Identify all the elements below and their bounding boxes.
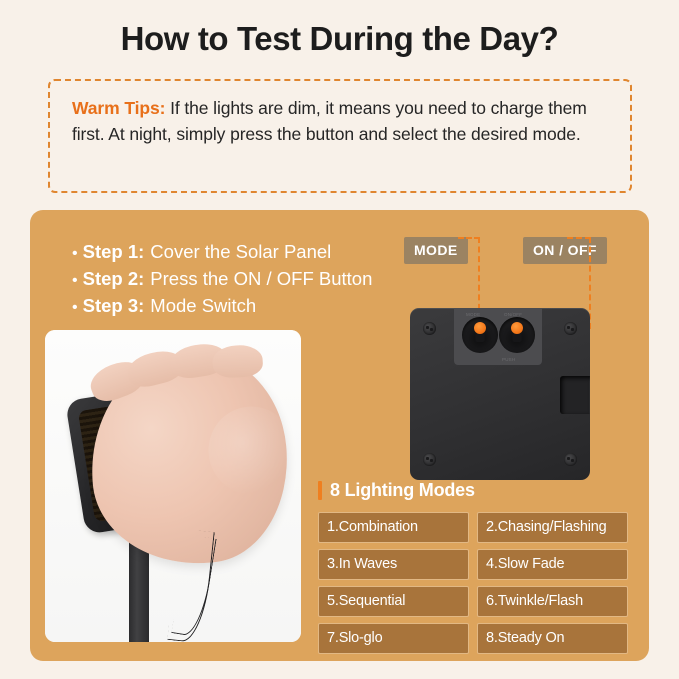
connector-line-onoff-horizontal xyxy=(567,237,591,239)
bullet-icon: • xyxy=(72,268,78,293)
mode-cell: 2.Chasing/Flashing xyxy=(477,512,628,543)
screw-icon xyxy=(564,322,577,335)
step-item-2: • Step 2: Press the ON / OFF Button xyxy=(72,266,372,293)
screw-icon xyxy=(423,453,436,466)
button-cap-icon xyxy=(511,322,523,334)
accent-bar-icon xyxy=(318,481,322,500)
lighting-modes-grid: 1.Combination 2.Chasing/Flashing 3.In Wa… xyxy=(318,512,628,654)
hand-covering-solar-panel-photo xyxy=(45,330,301,642)
mode-button[interactable] xyxy=(462,317,498,353)
bullet-icon: • xyxy=(72,295,78,320)
page-title: How to Test During the Day? xyxy=(0,20,679,58)
connector-line-mode-horizontal xyxy=(458,237,480,239)
warm-tips-label: Warm Tips: xyxy=(72,98,165,118)
screw-icon xyxy=(423,322,436,335)
step-text: Mode Switch xyxy=(150,293,256,318)
step-item-1: • Step 1: Cover the Solar Panel xyxy=(72,239,372,266)
instruction-card: • Step 1: Cover the Solar Panel • Step 2… xyxy=(30,210,649,661)
callout-label-onoff: ON / OFF xyxy=(523,237,607,264)
port-cutout xyxy=(560,376,590,414)
onoff-button[interactable] xyxy=(499,317,535,353)
mode-cell: 5.Sequential xyxy=(318,586,469,617)
step-label: Step 3: xyxy=(83,293,145,318)
lighting-modes-section: 8 Lighting Modes 1.Combination 2.Chasing… xyxy=(318,480,628,654)
infographic-page: How to Test During the Day? Warm Tips: I… xyxy=(0,0,679,679)
screw-icon xyxy=(564,453,577,466)
mode-cell: 1.Combination xyxy=(318,512,469,543)
mode-cell: 4.Slow Fade xyxy=(477,549,628,580)
lighting-modes-header: 8 Lighting Modes xyxy=(318,480,628,501)
steps-list: • Step 1: Cover the Solar Panel • Step 2… xyxy=(72,239,372,320)
mode-cell: 7.Slo-glo xyxy=(318,623,469,654)
button-cap-icon xyxy=(474,322,486,334)
warm-tips-text: Warm Tips: If the lights are dim, it mea… xyxy=(72,95,608,147)
finger xyxy=(212,344,264,379)
controller-box-illustration: MODE ON/OFF PUSH xyxy=(410,308,590,480)
step-text: Press the ON / OFF Button xyxy=(150,266,372,291)
mode-cell: 6.Twinkle/Flash xyxy=(477,586,628,617)
step-item-3: • Step 3: Mode Switch xyxy=(72,293,372,320)
bullet-icon: • xyxy=(72,241,78,266)
step-label: Step 2: xyxy=(83,266,145,291)
mode-cell: 3.In Waves xyxy=(318,549,469,580)
warm-tips-box: Warm Tips: If the lights are dim, it mea… xyxy=(48,79,632,193)
callout-label-mode: MODE xyxy=(404,237,468,264)
step-text: Cover the Solar Panel xyxy=(150,239,331,264)
button-plate: MODE ON/OFF PUSH xyxy=(454,308,542,365)
mode-cell: 8.Steady On xyxy=(477,623,628,654)
step-label: Step 1: xyxy=(83,239,145,264)
lighting-modes-title: 8 Lighting Modes xyxy=(330,480,475,501)
device-micro-label-push: PUSH xyxy=(502,357,515,362)
